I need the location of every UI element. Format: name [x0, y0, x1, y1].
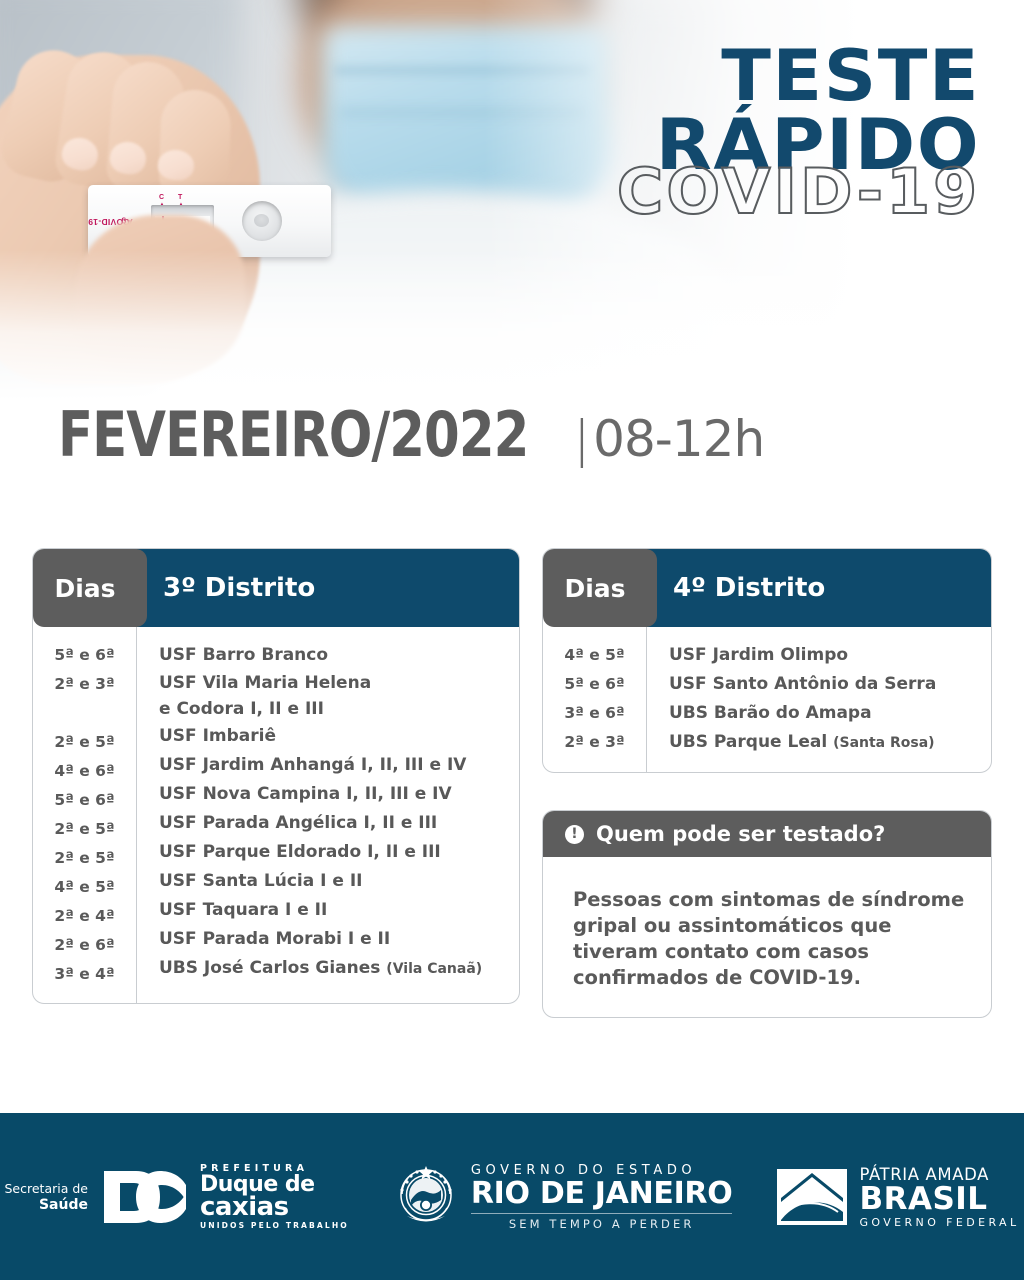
hero-fade-bottom	[0, 250, 1024, 400]
table-row-unit: USF Jardim Olimpo	[669, 641, 991, 670]
poster-title: TESTE RÁPIDO COVID-19	[624, 46, 980, 222]
duque-slogan: UNIDOS PELO TRABALHO	[200, 1221, 349, 1230]
table-row-unit: USF Santo Antônio da Serra	[669, 670, 991, 699]
rio-wordmark: GOVERNO DO ESTADO RIO DE JANEIRO SEM TEM…	[471, 1163, 733, 1231]
duque-caxias-wordmark: PREFEITURA Duque de caxias UNIDOS PELO T…	[200, 1163, 349, 1230]
exclamation-icon: !	[565, 825, 584, 844]
table-row-unit-name: UBS Parque Leal	[669, 732, 827, 752]
control-letter: C	[159, 194, 164, 201]
table-row-unit: USF Imbariê	[159, 722, 519, 751]
district3-units-column: USF Barro Branco USF Vila Maria Helena e…	[137, 627, 519, 1003]
district4-card: Dias 4º Distrito 4ª e 5ª 5ª e 6ª 3ª e 6ª…	[542, 548, 992, 773]
info-box-title: Quem pode ser testado?	[596, 822, 885, 846]
table-row-unit: UBS José Carlos Gianes (Vila Canaã)	[159, 954, 519, 984]
district3-days-header: Dias	[33, 549, 137, 627]
footer-bar: Secretaria de Saúde PREFEITURA Duque de …	[0, 1113, 1024, 1280]
brasil-flag-mark-icon	[776, 1168, 848, 1226]
secretaria-line1: Secretaria de	[5, 1181, 88, 1196]
table-row-days: 2ª e 3ª	[543, 728, 646, 757]
table-row-unit: USF Nova Campina I, II, III e IV	[159, 780, 519, 809]
rio-de-janeiro-label: RIO DE JANEIRO	[471, 1178, 733, 1209]
logo-governo-rio-de-janeiro: GOVERNO DO ESTADO RIO DE JANEIRO SEM TEM…	[393, 1163, 733, 1231]
table-row-days: 2ª e 6ª	[33, 931, 136, 960]
logo-patria-amada-brasil: PÁTRIA AMADA BRASIL GOVERNO FEDERAL	[776, 1165, 1019, 1229]
district3-header: Dias 3º Distrito	[33, 549, 519, 627]
table-row-unit: USF Parada Morabi I e II	[159, 925, 519, 954]
month-label: FEVEREIRO/2022	[58, 398, 528, 471]
hours-value: 08-12h	[593, 410, 764, 468]
dc-monogram-icon	[102, 1169, 188, 1225]
caxias-label: caxias	[200, 1195, 349, 1219]
district4-days-header: Dias	[543, 549, 647, 627]
table-row-unit: UBS Parque Leal (Santa Rosa)	[669, 728, 991, 758]
table-row-days: 5ª e 6ª	[33, 786, 136, 815]
table-row-unit: USF Taquara I e II	[159, 896, 519, 925]
table-row-unit: UBS Barão do Amapa	[669, 699, 991, 728]
rio-coat-of-arms-icon	[393, 1164, 459, 1230]
table-row-days: 2ª e 5ª	[33, 728, 136, 757]
info-box-body: Pessoas com sintomas de síndrome gripal …	[543, 857, 991, 1017]
hours-separator: |	[573, 410, 589, 468]
district3-days-column: 5ª e 6ª 2ª e 3ª 2ª e 5ª 4ª e 6ª 5ª e 6ª …	[33, 627, 137, 1003]
district3-body: 5ª e 6ª 2ª e 3ª 2ª e 5ª 4ª e 6ª 5ª e 6ª …	[33, 627, 519, 1003]
table-row-unit-paren: (Vila Canaã)	[386, 961, 482, 977]
table-row-unit: USF Parque Eldorado I, II e III	[159, 838, 519, 867]
table-row-unit-paren: (Santa Rosa)	[833, 735, 935, 751]
table-row-days: 5ª e 6ª	[33, 641, 136, 670]
district3-card: Dias 3º Distrito 5ª e 6ª 2ª e 3ª 2ª e 5ª…	[32, 548, 520, 1004]
district4-units-column: USF Jardim Olimpo USF Santo Antônio da S…	[647, 627, 991, 772]
table-row-days: 4ª e 5ª	[33, 873, 136, 902]
table-row-days: 4ª e 5ª	[543, 641, 646, 670]
secretaria-line2: Saúde	[39, 1197, 88, 1213]
table-row-unit-line1: USF Vila Maria Helena	[159, 670, 519, 696]
schedule-header: FEVEREIRO/2022 |08-12h	[58, 398, 978, 471]
rio-divider	[471, 1213, 733, 1214]
test-letter: T	[178, 194, 182, 201]
table-row-days: 4ª e 6ª	[33, 757, 136, 786]
title-line-teste: TESTE	[610, 46, 980, 106]
secretaria-saude-label: Secretaria de Saúde	[5, 1181, 88, 1213]
table-row-unit-name: UBS José Carlos Gianes	[159, 958, 380, 978]
table-row-days: 3ª e 6ª	[543, 699, 646, 728]
table-row-days-spacer	[33, 699, 136, 728]
who-can-be-tested-box: ! Quem pode ser testado? Pessoas com sin…	[542, 810, 992, 1018]
rio-slogan: SEM TEMPO A PERDER	[471, 1217, 733, 1231]
table-row-unit: USF Jardim Anhangá I, II, III e IV	[159, 751, 519, 780]
governo-federal-label: GOVERNO FEDERAL	[859, 1216, 1019, 1229]
table-row-days: 3ª e 4ª	[33, 960, 136, 989]
title-line-covid: COVID-19	[617, 162, 980, 222]
table-row-days: 2ª e 3ª	[33, 670, 136, 699]
district3-title: 3º Distrito	[137, 549, 519, 627]
sample-well	[242, 201, 282, 241]
table-row-days: 5ª e 6ª	[543, 670, 646, 699]
hours-label: |08-12h	[573, 410, 764, 468]
table-row-unit: USF Barro Branco	[159, 641, 519, 670]
info-box-header: ! Quem pode ser testado?	[543, 811, 991, 857]
table-row-days: 2ª e 5ª	[33, 815, 136, 844]
table-row-days: 2ª e 4ª	[33, 902, 136, 931]
district4-title: 4º Distrito	[647, 549, 991, 627]
brasil-wordmark: PÁTRIA AMADA BRASIL GOVERNO FEDERAL	[859, 1165, 1019, 1229]
district4-days-column: 4ª e 5ª 5ª e 6ª 3ª e 6ª 2ª e 3ª	[543, 627, 647, 772]
table-row-unit-line2: e Codora I, II e III	[159, 696, 519, 722]
logo-prefeitura-duque-de-caxias: Secretaria de Saúde PREFEITURA Duque de …	[5, 1163, 349, 1230]
table-row-unit: USF Vila Maria Helena e Codora I, II e I…	[159, 670, 519, 722]
district4-header: Dias 4º Distrito	[543, 549, 991, 627]
table-row-unit: USF Santa Lúcia I e II	[159, 867, 519, 896]
sample-well-inner	[254, 214, 269, 227]
district4-body: 4ª e 5ª 5ª e 6ª 3ª e 6ª 2ª e 3ª USF Jard…	[543, 627, 991, 772]
table-row-days: 2ª e 5ª	[33, 844, 136, 873]
poster-root: COVID-19Ag C T ▲ ▲ TESTE RÁPIDO COVID-19…	[0, 0, 1024, 1280]
brasil-label: BRASIL	[859, 1184, 1019, 1215]
table-row-unit: USF Parada Angélica I, II e III	[159, 809, 519, 838]
